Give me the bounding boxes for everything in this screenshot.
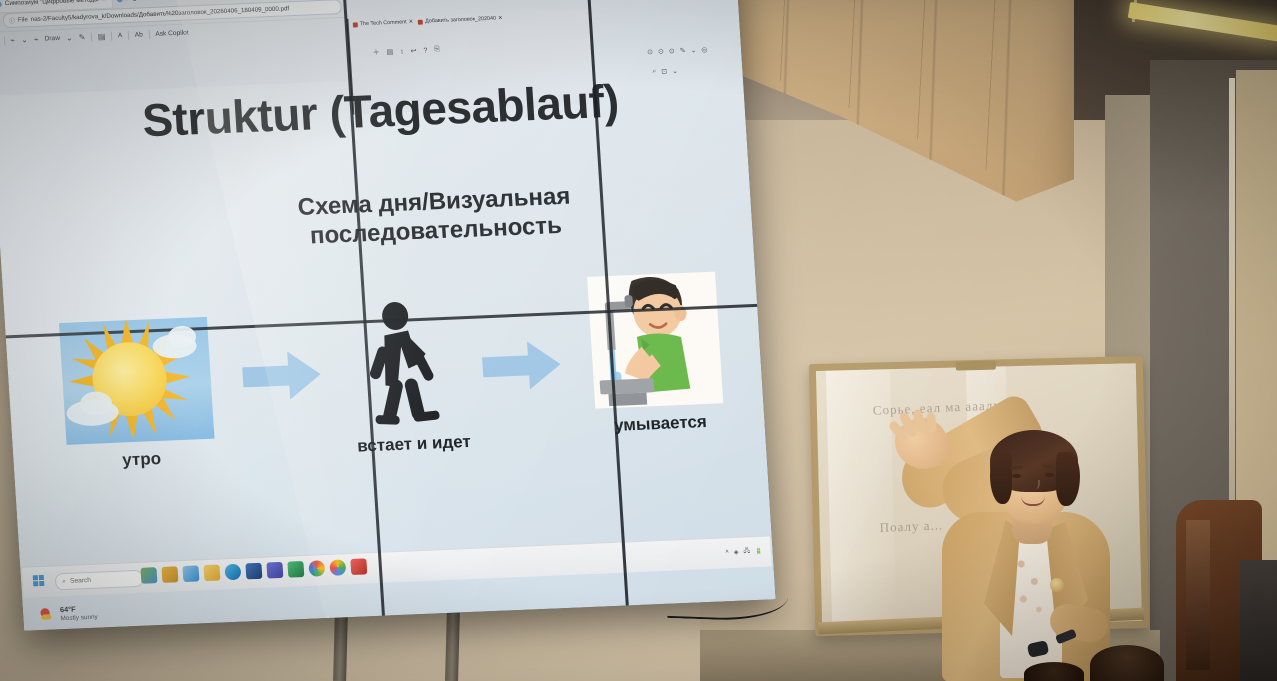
help-icon[interactable]: ? [423,47,427,54]
taskbar-search-box[interactable]: ⌕ Search [55,570,144,591]
sun-with-clouds-icon [59,317,215,445]
erase-icon[interactable]: ◎ [701,46,708,54]
slide-title: Struktur (Tagesablauf) [141,76,664,144]
teams-icon[interactable] [266,562,283,579]
sun-cloud-icon [39,606,56,623]
video-wall-display: Симпозиум "Цифровые методы ✕ Login with … [0,0,776,631]
tray-expand-icon[interactable]: ˄ [725,549,729,555]
draw-icon[interactable]: ⌁ [33,34,38,43]
step-caption: утро [67,447,216,473]
edge-icon[interactable] [224,564,241,581]
tab-favicon-icon [353,22,358,27]
chrome2-icon[interactable] [329,559,346,576]
display-stand-leg-left [333,612,348,681]
taskbar-weather-widget[interactable]: 64°F Mostly sunny [38,597,160,628]
pen-icon[interactable]: ✎ [679,47,685,55]
read-aloud-button[interactable]: A [118,32,123,39]
third-toolbar-row-1: ⊙ ⊙ ⊙ ✎ ⌄ ◎ [647,46,708,57]
search-placeholder: Search [70,577,91,585]
windows-start-button[interactable] [33,575,45,586]
file-explorer-icon[interactable] [161,566,178,583]
url-scheme-label: File [18,16,28,23]
coat-fold [1186,520,1210,670]
weather-condition: Mostly sunny [60,613,98,623]
browser2-tab-techcomment[interactable]: The Tech Comment ✕ [353,19,414,28]
browser-window-chrome: Симпозиум "Цифровые методы ✕ Login with … [0,0,350,96]
lecture-hall-screenshot: Сорье, еал ма ааалм Поалу а... Симпозиум… [0,0,1277,681]
slide-sequence-row: утро [49,294,761,523]
toolbar-divider [111,31,112,40]
tab-label: Добавить заголовок_202040 [425,16,496,25]
sequence-step-morning: утро [59,317,216,473]
tab-close-icon[interactable]: ✕ [498,15,503,21]
text-style-button[interactable]: Ab [135,31,144,38]
tab-label: Login with Google - Zoom [125,0,199,2]
pen-icon[interactable]: ⌁ [10,35,15,44]
word-icon[interactable] [245,563,262,580]
tab-close-icon[interactable]: ✕ [101,0,106,3]
presenter-hair-left [990,452,1012,504]
chevron-down-icon[interactable]: ⌄ [66,33,73,42]
second-browser-toolbar: ＋ ▤ ↕ ↩ ? ⎘ [372,45,440,58]
zoom-out-icon[interactable]: ⊙ [647,48,653,56]
second-browser-tabstrip: The Tech Comment ✕ Добавить заголовок_20… [353,15,503,27]
zoom-in-icon[interactable]: ⊙ [658,48,664,56]
page-layout-icon[interactable]: ▤ [98,31,106,40]
presenter-brooch [1050,578,1064,592]
tab-favicon-icon [0,1,2,7]
highlight-icon[interactable]: ✎ [78,32,85,41]
toolbar-divider [149,30,150,39]
page-view-icon[interactable]: ▤ [386,48,393,56]
chevron-down-icon[interactable]: ⌄ [21,35,28,44]
audience-head-foreground-1 [1090,645,1164,681]
store-icon[interactable] [182,565,199,582]
right-arrow-icon [481,338,562,393]
presenter-eye-left [1012,474,1021,478]
sequence-arrow-2 [481,338,563,398]
toolbar-divider [128,30,129,39]
audience-head-foreground-2 [1024,662,1084,681]
tab-favicon-icon [418,19,423,24]
tab-label: Симпозиум "Цифровые методы [5,0,99,7]
chevron-down-icon[interactable]: ⌄ [690,46,696,54]
fit-height-icon[interactable]: ↕ [400,48,404,55]
search-icon: ⌕ [62,577,66,585]
copy-icon[interactable]: ⎘ [434,46,440,54]
presenter-eye-right [1045,473,1054,477]
tray-battery-icon[interactable]: 🔋 [755,547,763,554]
tab-label: The Tech Comment [360,19,407,27]
toolbar-divider [3,36,4,45]
pdf-slide-content: Struktur (Tagesablauf) Схема дня/Визуаль… [0,64,768,564]
right-arrow-icon [241,348,322,403]
site-info-icon[interactable]: ⓘ [9,16,16,25]
fit-page-icon[interactable]: ⊙ [669,47,675,55]
chair [1240,560,1277,681]
taskbar-system-tray: ˄ ◈ 🖧 🔋 [725,546,763,558]
whiteboard-clip [956,361,996,371]
undo-icon[interactable]: ↩ [410,47,416,55]
tray-onedrive-icon[interactable]: ◈ [734,548,739,555]
draw-button[interactable]: Draw [44,34,60,42]
video-wall-surface: Симпозиум "Цифровые методы ✕ Login with … [0,0,776,631]
toolbar-divider [91,32,92,41]
tab-close-icon[interactable]: ✕ [409,19,414,25]
presenter [900,400,1200,681]
slide-subtitle: Схема дня/Визуальная последовательность [233,179,636,254]
chrome-icon[interactable] [308,560,325,577]
ask-copilot-button[interactable]: Ask Copilot [155,29,189,37]
sequence-arrow-1 [241,348,323,408]
mail-icon[interactable] [203,565,220,582]
add-icon[interactable]: ＋ [372,47,380,57]
tab-favicon-icon [116,0,122,2]
weather-text: 64°F Mostly sunny [60,604,98,623]
tray-network-icon[interactable]: 🖧 [743,546,750,556]
powerpoint-icon[interactable] [287,561,304,578]
presenter-hair-right [1056,452,1080,506]
acrobat-icon[interactable] [350,558,367,575]
taskbar-app-icons [140,558,367,583]
weather-app-icon[interactable] [140,567,157,584]
display-stand-leg-right [445,608,460,681]
browser2-tab-pdf[interactable]: Добавить заголовок_202040 ✕ [418,15,503,25]
